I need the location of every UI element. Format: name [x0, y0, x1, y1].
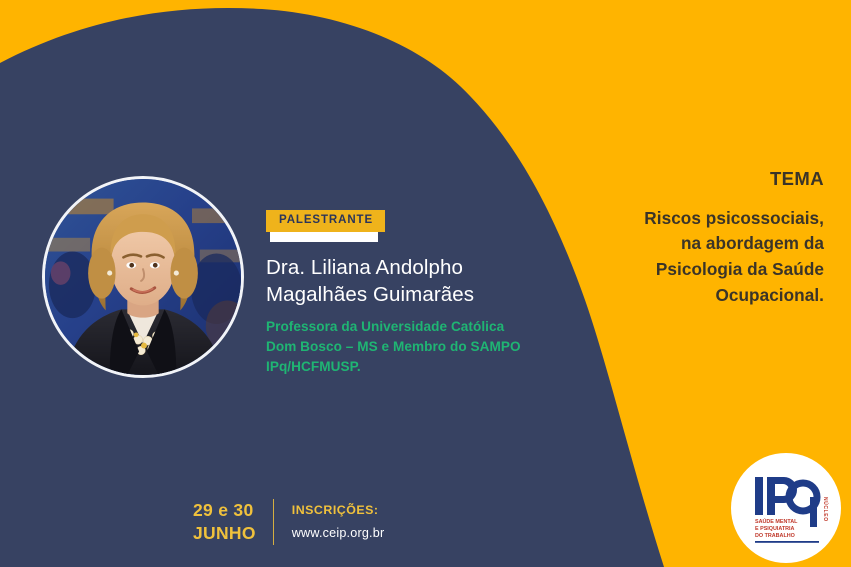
speaker-credentials: Professora da Universidade Católica Dom … — [266, 317, 566, 377]
event-date: 29 e 30 JUNHO — [193, 499, 273, 545]
logo-vertical-text: NÚCLEO — [822, 497, 829, 522]
theme-description: Riscos psicossociais, na abordagem da Ps… — [592, 206, 824, 310]
theme-line-2: na abordagem da — [592, 231, 824, 257]
ipq-logo: NÚCLEO SAÚDE MENTAL E PSIQUIATRIA DO TRA… — [731, 453, 841, 563]
speaker-name-line-2: Magalhães Guimarães — [266, 281, 566, 308]
svg-text:DO TRABALHO: DO TRABALHO — [755, 533, 795, 539]
speaker-photo — [42, 176, 244, 378]
signup-section: INSCRIÇÕES: www.ceip.org.br — [274, 503, 385, 541]
theme-line-4: Ocupacional. — [592, 283, 824, 309]
event-date-day: 29 e 30 — [193, 499, 256, 522]
logo-underline — [755, 541, 819, 543]
signup-url-link[interactable]: www.ceip.org.br — [292, 526, 385, 541]
speaker-info: PALESTRANTE Dra. Liliana Andolpho Magalh… — [266, 210, 566, 377]
speaker-name-line-1: Dra. Liliana Andolpho — [266, 254, 566, 281]
speaker-role-line-2: Dom Bosco – MS e Membro do SAMPO — [266, 337, 566, 357]
event-poster: PALESTRANTE Dra. Liliana Andolpho Magalh… — [0, 0, 851, 567]
logo-tagline: SAÚDE MENTAL E PSIQUIATRIA DO TRABALHO — [755, 518, 798, 539]
speaker-role-line-3: IPq/HCFMUSP. — [266, 357, 566, 377]
theme-label: TEMA — [592, 170, 824, 189]
theme-line-1: Riscos psicossociais, — [592, 206, 824, 232]
speaker-name: Dra. Liliana Andolpho Magalhães Guimarãe… — [266, 254, 566, 309]
theme-section: TEMA Riscos psicossociais, na abordagem … — [592, 170, 824, 309]
svg-text:E PSIQUIATRIA: E PSIQUIATRIA — [755, 526, 795, 532]
palestrante-badge: PALESTRANTE — [266, 210, 385, 232]
footer-divider — [273, 499, 274, 545]
svg-text:SAÚDE MENTAL: SAÚDE MENTAL — [755, 518, 798, 525]
footer-bar: 29 e 30 JUNHO INSCRIÇÕES: www.ceip.org.b… — [193, 499, 384, 545]
signup-label: INSCRIÇÕES: — [292, 503, 385, 518]
theme-line-3: Psicologia da Saúde — [592, 257, 824, 283]
speaker-role-line-1: Professora da Universidade Católica — [266, 317, 566, 337]
event-date-month: JUNHO — [193, 522, 256, 545]
